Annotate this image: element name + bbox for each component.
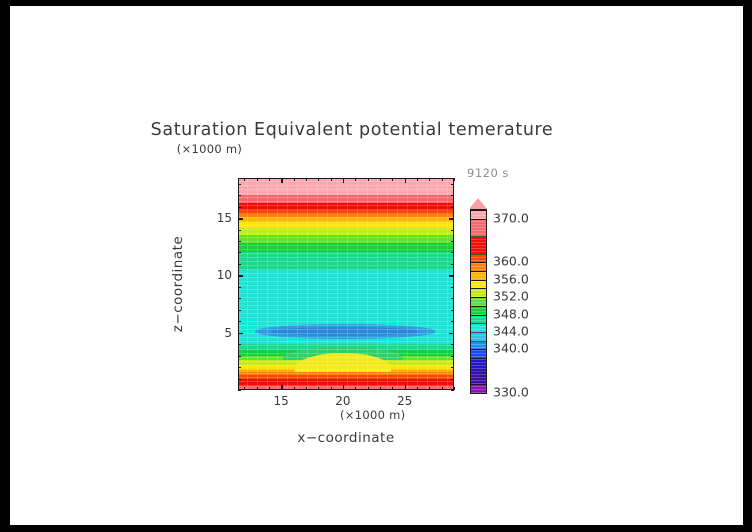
y-tick-label: 10 — [208, 268, 232, 282]
x-tick — [306, 178, 307, 181]
x-tick — [442, 387, 443, 390]
colorbar-separator — [471, 280, 486, 281]
x-tick — [454, 178, 455, 181]
y-tick — [238, 344, 241, 345]
colorbar-band — [471, 236, 486, 254]
y-tick — [238, 298, 241, 299]
y-tick — [238, 184, 241, 185]
colorbar-separator — [471, 315, 486, 316]
y-tick — [451, 390, 454, 391]
colorbar-separator — [471, 271, 486, 272]
x-tick — [318, 387, 319, 390]
y-tick-label: 15 — [208, 211, 232, 225]
x-tick — [429, 387, 430, 390]
x-tick — [294, 387, 295, 390]
colorbar — [469, 198, 487, 394]
colorbar-tick-label: 340.0 — [493, 341, 529, 356]
x-axis-title: x−coordinate — [238, 430, 454, 446]
x-tick — [380, 178, 381, 181]
x-tick — [257, 178, 258, 181]
y-tick — [451, 344, 454, 345]
y-tick — [449, 333, 454, 335]
y-tick — [451, 287, 454, 288]
colorbar-tick-label: 356.0 — [493, 271, 529, 286]
x-tick — [257, 387, 258, 390]
colorbar-band — [471, 384, 486, 393]
colorbar-separator — [471, 288, 486, 289]
x-axis-unit-label: (×1000 m) — [340, 408, 405, 422]
y-tick — [238, 264, 241, 265]
colorbar-separator — [471, 358, 486, 359]
x-tick — [343, 178, 345, 183]
x-tick — [368, 178, 369, 181]
y-tick — [451, 230, 454, 231]
x-tick-label: 15 — [274, 394, 289, 408]
y-tick — [238, 333, 243, 335]
x-tick — [355, 178, 356, 181]
y-tick — [451, 195, 454, 196]
colorbar-tick-label: 360.0 — [493, 254, 529, 269]
stratified-temperature-field — [238, 178, 454, 390]
y-tick — [451, 310, 454, 311]
y-tick — [238, 207, 241, 208]
y-tick — [451, 241, 454, 242]
contour-field — [238, 178, 454, 390]
x-tick — [306, 387, 307, 390]
colorbar-separator — [471, 384, 486, 385]
x-tick — [417, 387, 418, 390]
y-tick — [238, 356, 241, 357]
colorbar-band — [471, 358, 486, 372]
x-tick — [331, 387, 332, 390]
image-frame: Saturation Equivalent potential temeratu… — [0, 0, 752, 532]
y-tick — [449, 275, 454, 277]
colorbar-separator — [471, 254, 486, 255]
y-tick — [451, 356, 454, 357]
x-tick — [281, 178, 283, 183]
y-tick — [451, 184, 454, 185]
x-tick — [405, 178, 407, 183]
x-tick — [355, 387, 356, 390]
colorbar-separator — [471, 341, 486, 342]
y-tick — [449, 218, 454, 220]
x-tick — [269, 387, 270, 390]
y-tick — [238, 195, 241, 196]
colorbar-band — [471, 219, 486, 237]
colorbar-separator — [471, 210, 486, 211]
colorbar-tick-label: 352.0 — [493, 289, 529, 304]
x-tick — [392, 178, 393, 181]
y-tick — [238, 310, 241, 311]
y-tick — [238, 390, 241, 391]
y-tick — [451, 367, 454, 368]
y-tick-label: 5 — [208, 326, 232, 340]
x-tick — [281, 385, 283, 390]
y-tick — [238, 287, 241, 288]
y-tick — [238, 241, 241, 242]
y-axis-unit-label: (×1000 m) — [122, 142, 297, 156]
colorbar-extend-arrow — [469, 198, 487, 209]
y-tick — [451, 207, 454, 208]
colorbar-separator — [471, 236, 486, 237]
x-tick — [269, 178, 270, 181]
x-tick — [244, 387, 245, 390]
colorbar-tick-label: 330.0 — [493, 385, 529, 400]
y-tick — [238, 230, 241, 231]
colorbar-separator — [471, 306, 486, 307]
colorbar-tick-label: 348.0 — [493, 306, 529, 321]
colorbar-separator — [471, 332, 486, 333]
colorbar-separator — [471, 323, 486, 324]
contour-plot — [238, 178, 454, 390]
y-tick — [451, 252, 454, 253]
x-tick — [392, 387, 393, 390]
colorbar-separator — [471, 371, 486, 372]
timestamp-label: 9120 s — [467, 166, 509, 180]
y-tick — [238, 321, 241, 322]
y-tick — [238, 252, 241, 253]
y-tick — [238, 367, 241, 368]
y-tick — [451, 321, 454, 322]
x-tick — [343, 385, 345, 390]
colorbar-band — [471, 371, 486, 385]
y-tick — [238, 275, 243, 277]
x-tick — [331, 178, 332, 181]
x-tick — [380, 387, 381, 390]
x-tick — [294, 178, 295, 181]
y-tick — [238, 218, 243, 220]
x-tick — [244, 178, 245, 181]
y-tick — [451, 379, 454, 380]
x-tick — [442, 178, 443, 181]
plot-canvas: Saturation Equivalent potential temeratu… — [10, 6, 743, 525]
x-tick-label: 25 — [397, 394, 412, 408]
colorbar-body — [470, 209, 487, 394]
x-tick-label: 20 — [335, 394, 350, 408]
colorbar-tick-label: 370.0 — [493, 210, 529, 225]
y-axis-title: z−coordinate — [170, 236, 186, 332]
x-tick — [368, 387, 369, 390]
colorbar-separator — [471, 219, 486, 220]
x-tick — [454, 387, 455, 390]
x-tick — [405, 385, 407, 390]
x-tick — [318, 178, 319, 181]
page-title: Saturation Equivalent potential temeratu… — [122, 120, 582, 140]
colorbar-tick-label: 344.0 — [493, 324, 529, 339]
x-tick — [417, 178, 418, 181]
x-tick — [429, 178, 430, 181]
y-tick — [238, 379, 241, 380]
colorbar-separator — [471, 297, 486, 298]
y-tick — [451, 298, 454, 299]
colorbar-separator — [471, 262, 486, 263]
colorbar-separator — [471, 349, 486, 350]
y-tick — [451, 264, 454, 265]
